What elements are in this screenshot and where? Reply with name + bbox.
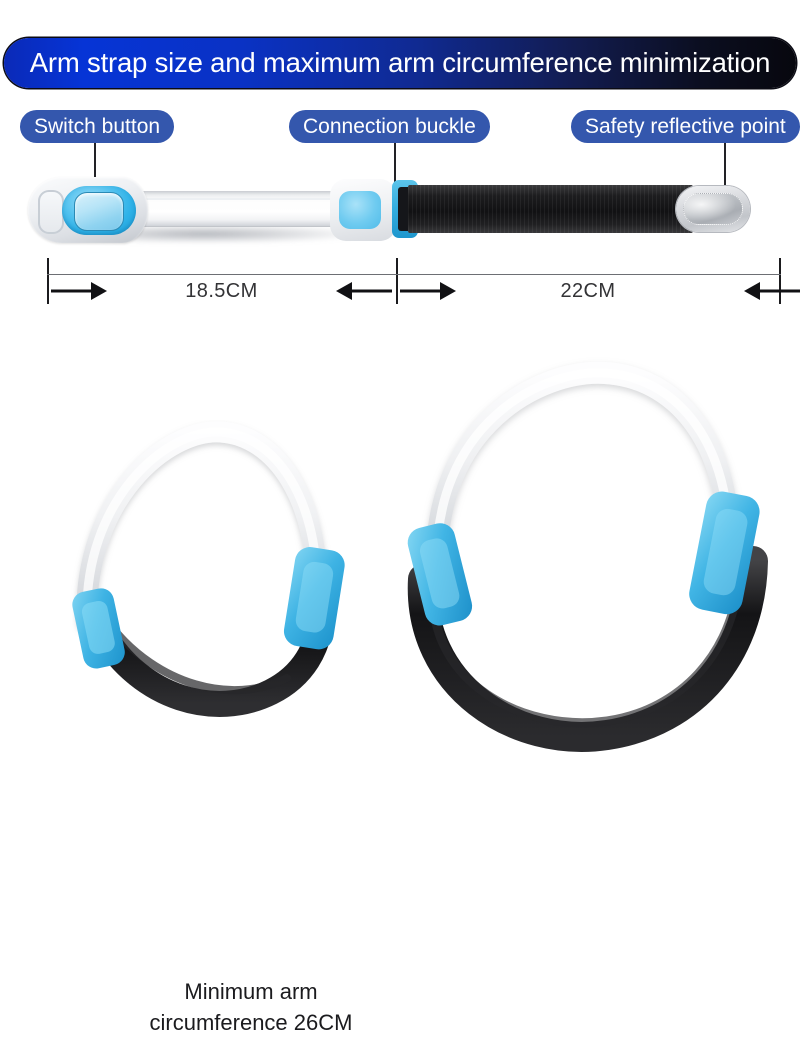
arrow-shaft-right-1 — [352, 290, 392, 293]
product-strap-image — [0, 165, 800, 260]
max-circumference-photo: The maximum arm circumference is 58CM, w… — [375, 355, 800, 765]
arrow-head-left-2 — [744, 282, 760, 300]
max-loop-illustration — [375, 355, 800, 765]
dimension-label-22cm: 22CM — [561, 280, 616, 303]
arrow-shaft-left-2 — [400, 290, 440, 293]
callout-label-safety-reflective-point: Safety reflective point — [571, 110, 800, 143]
max-circumference-caption: The maximum arm circumference is 58CM, w… — [795, 860, 800, 959]
arrow-shaft-right-2 — [760, 290, 800, 293]
housing-loop-slot — [38, 190, 64, 234]
dimension-measurements: 18.5CM 22CM — [0, 258, 800, 306]
dimension-segment-silicone: 18.5CM — [47, 276, 396, 306]
led-ring — [62, 186, 136, 235]
arrow-shaft-left-1 — [51, 290, 91, 293]
callout-label-connection-buckle: Connection buckle — [289, 110, 490, 143]
safety-reflective-point — [676, 186, 750, 232]
buckle-housing — [330, 179, 396, 241]
page-title: Arm strap size and maximum arm circumfer… — [30, 47, 770, 79]
min-circumference-caption: Minimum arm circumference 26CM — [131, 976, 371, 1038]
min-circumference-photo: Minimum arm circumference 26CM — [45, 420, 365, 720]
dimension-segment-elastic: 22CM — [396, 276, 780, 306]
switch-button-icon — [74, 192, 124, 231]
switch-housing — [28, 177, 148, 243]
title-banner: Arm strap size and maximum arm circumfer… — [4, 38, 796, 88]
callout-label-switch-button: Switch button — [20, 110, 174, 143]
arrow-head-right-1 — [91, 282, 107, 300]
min-loop-illustration — [45, 420, 365, 720]
reflective-surface — [683, 193, 743, 225]
dimension-label-18-5cm: 18.5CM — [185, 280, 257, 303]
elastic-webbing — [408, 185, 693, 233]
buckle-pad — [339, 191, 381, 229]
arrow-head-left-1 — [336, 282, 352, 300]
arrow-head-right-2 — [440, 282, 456, 300]
